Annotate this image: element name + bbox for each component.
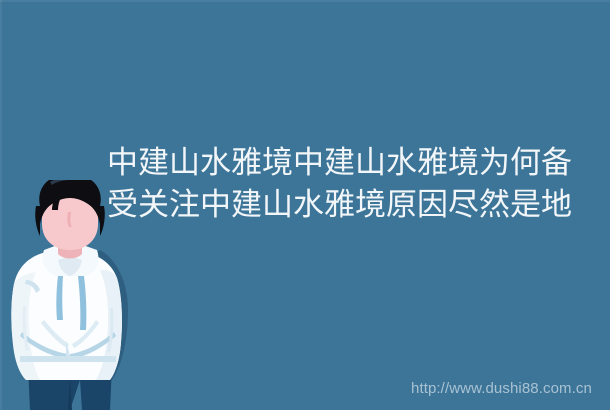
image-canvas: 中建山水雅境中建山水雅境为何备受关注中建山水雅境原因尽然是地 http://ww…	[0, 0, 610, 410]
watermark-url: http://www.dushi88.com.cn	[411, 380, 592, 398]
headline-text: 中建山水雅境中建山水雅境为何备受关注中建山水雅境原因尽然是地	[107, 142, 587, 226]
hair-sideburn-right	[100, 206, 105, 236]
waist-band	[20, 356, 116, 362]
top-edge-highlight	[0, 0, 610, 2]
drawstring-left	[56, 276, 63, 320]
hair-sideburn-left	[35, 206, 40, 236]
